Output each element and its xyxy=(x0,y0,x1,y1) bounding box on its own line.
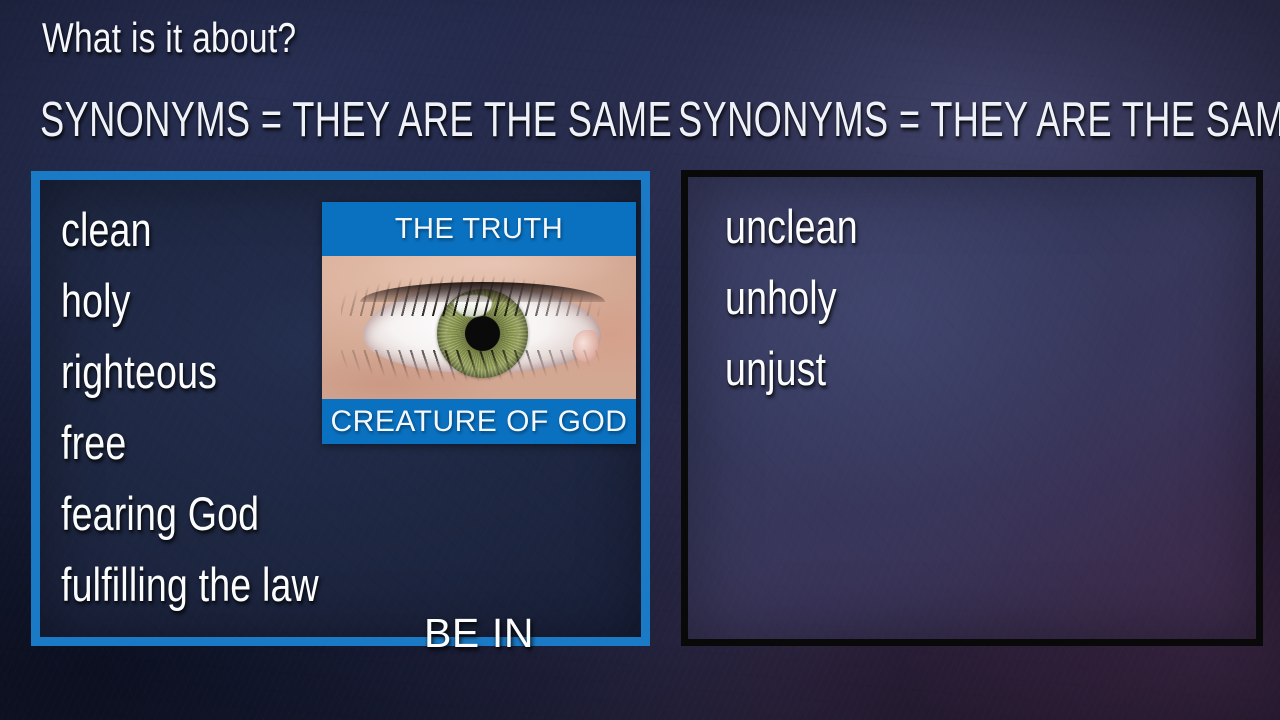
truth-eye-card: THE TRUTH CREATURE OF GOD xyxy=(322,202,636,444)
list-item: holy xyxy=(61,265,317,336)
list-item: clean xyxy=(61,194,317,265)
eye-card-title: THE TRUTH xyxy=(322,202,636,256)
left-panel-heading: SYNONYMS = THEY ARE THE SAME xyxy=(40,92,672,148)
list-item: fearing God xyxy=(61,478,317,549)
list-item: fulfilling the law xyxy=(61,549,317,620)
list-item: free xyxy=(61,407,317,478)
human-eye-photo xyxy=(322,256,636,399)
left-panel-tagline: BE IN THE TRUTH xyxy=(322,476,636,720)
presentation-slide: What is it about? SYNONYMS = THEY ARE TH… xyxy=(0,0,1280,720)
tagline-line-1: BE IN xyxy=(322,602,636,665)
right-panel-heading: SYNONYMS = THEY ARE THE SAME xyxy=(678,92,1280,148)
left-panel: clean holy righteous free fearing God fu… xyxy=(31,171,650,646)
list-item: unclean xyxy=(725,191,1045,262)
list-item: unjust xyxy=(725,333,1045,404)
right-word-list: unclean unholy unjust xyxy=(725,191,1125,404)
right-panel: unclean unholy unjust xyxy=(681,170,1263,646)
list-item: unholy xyxy=(725,262,1045,333)
eye-tear-duct xyxy=(573,330,598,361)
list-item: righteous xyxy=(61,336,317,407)
eye-card-caption: CREATURE OF GOD xyxy=(322,399,636,444)
page-title: What is it about? xyxy=(42,14,296,62)
